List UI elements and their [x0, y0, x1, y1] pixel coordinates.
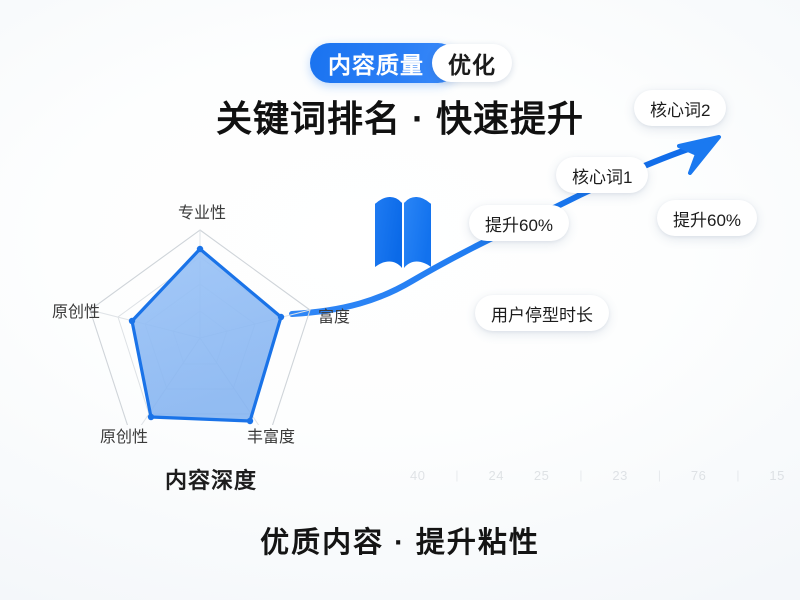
ruler-tick: 15 [769, 468, 784, 483]
ruler-tick: 40 [410, 468, 425, 483]
page-subtitle: 优质内容 · 提升粘性 [0, 519, 800, 561]
ruler-tick: | [579, 468, 582, 482]
pill-uplift-right[interactable]: 提升60% [657, 200, 757, 236]
open-book-icon [372, 186, 434, 278]
pill-keyword-1[interactable]: 核心词1 [556, 157, 648, 193]
pill-dwell-time[interactable]: 用户停型时长 [475, 295, 609, 331]
ruler-tick: 25 [534, 468, 549, 483]
content-quality-badge: 内容质量 优化 [310, 42, 512, 84]
pill-uplift-left[interactable]: 提升60% [469, 205, 569, 241]
radar-series [129, 246, 284, 424]
badge-accent-label: 优化 [432, 44, 512, 82]
ruler-tick: | [455, 468, 458, 482]
ruler-tick: 76 [691, 468, 706, 483]
radar-label-bottom-left: 原创性 [100, 423, 148, 447]
radar-label-left: 原创性 [52, 298, 100, 322]
radar-label-bottom-right: 丰富度 [247, 423, 295, 447]
ruler-tick: | [736, 468, 739, 482]
ruler-tick: 24 [489, 468, 504, 483]
radar-label-right: 富度 [318, 303, 350, 327]
pill-keyword-2[interactable]: 核心词2 [634, 90, 726, 126]
poster-canvas: 内容质量 优化 关键词排名 · 快速提升 [0, 0, 800, 600]
ruler-tick: | [658, 468, 661, 482]
radar-label-top: 专业性 [178, 199, 226, 223]
faint-ruler-axis: 40 | 24 25 | 23 | 76 | 15 [410, 464, 785, 486]
ruler-tick: 23 [612, 468, 627, 483]
content-depth-label: 内容深度 [165, 463, 257, 495]
